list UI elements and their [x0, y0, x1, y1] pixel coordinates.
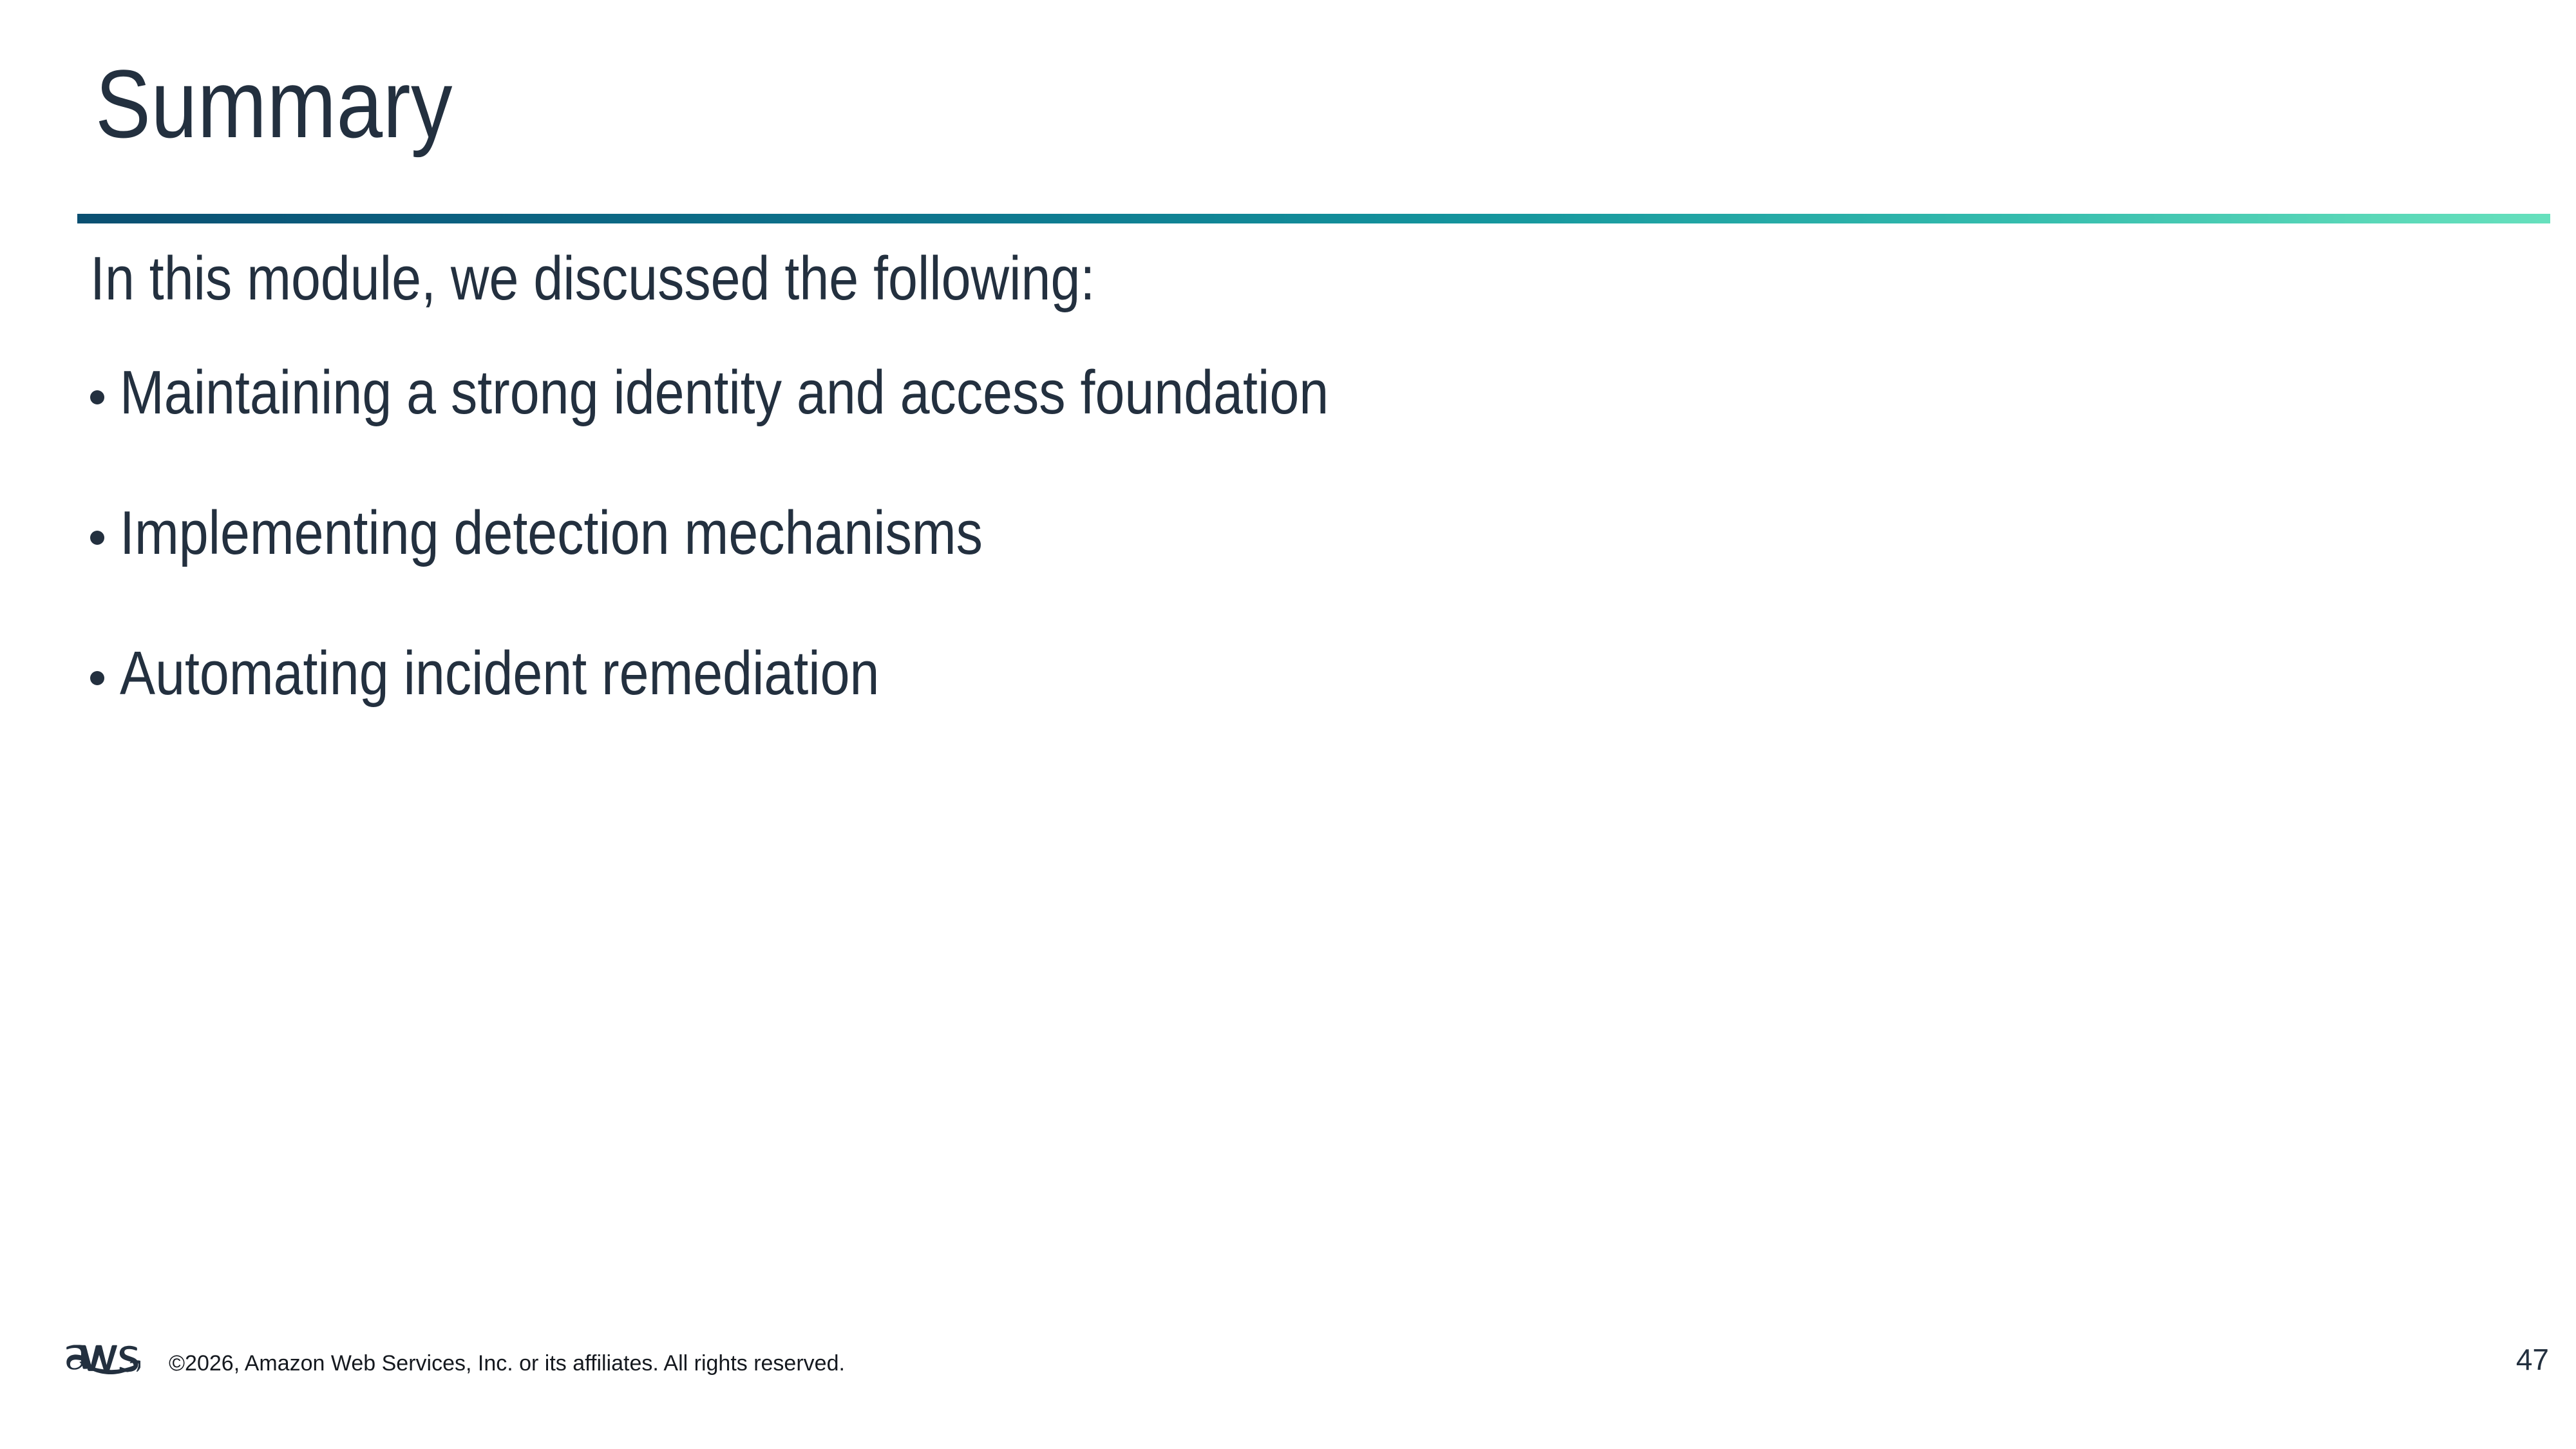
- slide-footer: ©2026, Amazon Web Services, Inc. or its …: [0, 1320, 2576, 1449]
- list-item-label: Implementing detection mechanisms: [120, 501, 983, 566]
- list-item-label: Maintaining a strong identity and access…: [120, 361, 1329, 426]
- list-item: Automating incident remediation: [90, 641, 2473, 708]
- bullet-dot-icon: [90, 671, 104, 685]
- summary-bullet-list: Maintaining a strong identity and access…: [90, 361, 2473, 782]
- list-item: Implementing detection mechanisms: [90, 501, 2473, 568]
- page-number: 47: [2516, 1345, 2549, 1374]
- title-gradient-divider: [77, 214, 2550, 223]
- list-item-label: Automating incident remediation: [120, 641, 879, 706]
- bullet-dot-icon: [90, 531, 104, 545]
- presentation-slide: Summary In this module, we discussed the…: [0, 0, 2576, 1449]
- slide-header: Summary: [0, 0, 2576, 225]
- page-title: Summary: [95, 55, 453, 152]
- bullet-dot-icon: [90, 390, 104, 404]
- aws-logo-icon: [55, 1321, 140, 1385]
- copyright-text: ©2026, Amazon Web Services, Inc. or its …: [169, 1352, 845, 1374]
- intro-text: In this module, we discussed the followi…: [90, 248, 1095, 310]
- list-item: Maintaining a strong identity and access…: [90, 361, 2473, 428]
